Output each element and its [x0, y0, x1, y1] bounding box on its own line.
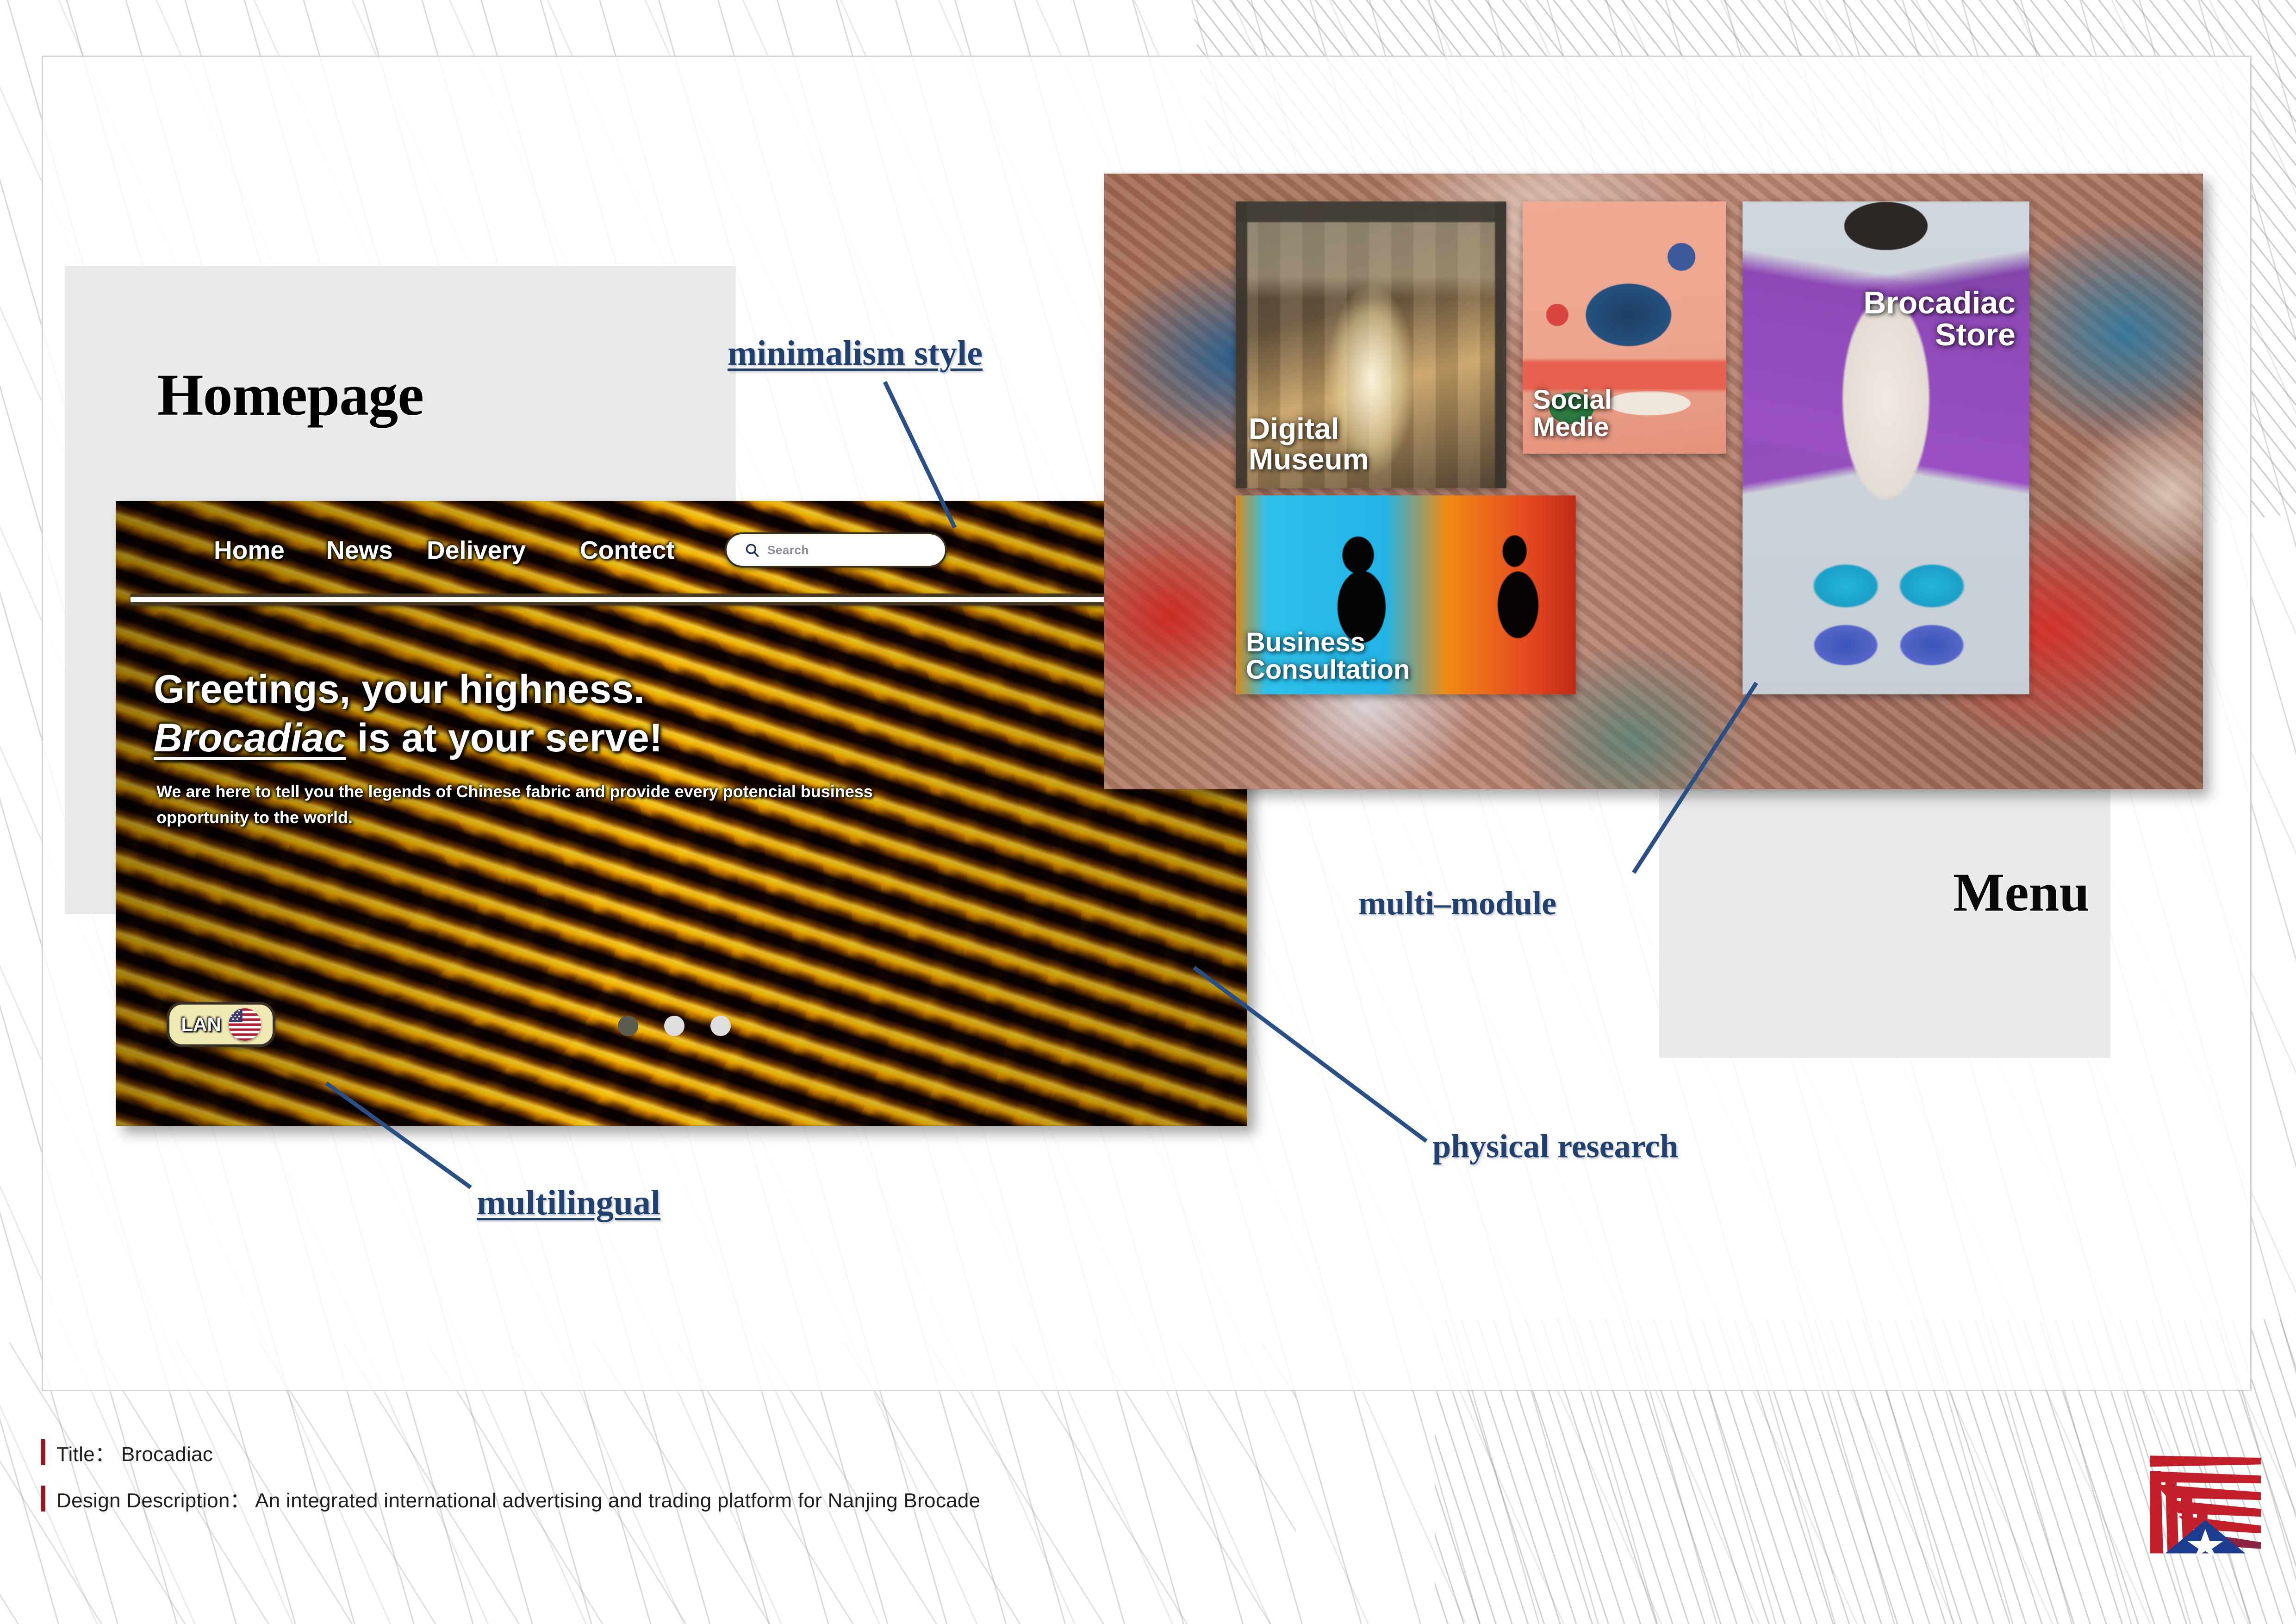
- language-button-label: LAN: [181, 1013, 221, 1036]
- homepage-mockup: Home News Delivery Contect Search Greeti…: [116, 501, 1247, 1126]
- menu-section-title: Menu: [1953, 861, 2090, 924]
- menu-tile-label-business-consultation: Business Consultation: [1246, 629, 1410, 683]
- carousel-indicator[interactable]: [618, 1016, 731, 1036]
- footer-accent-bar: [41, 1486, 45, 1512]
- menu-mockup: Digital Museum Social Medie Business Con…: [1104, 174, 2203, 789]
- menu-tile-label-brocadiac-store: Brocadiac Store: [1863, 287, 2016, 351]
- hero-headline-line-1: Greetings, your highness.: [154, 665, 1056, 714]
- institution-logo: [2150, 1447, 2261, 1558]
- carousel-dot-3[interactable]: [710, 1016, 731, 1036]
- callout-minimalism-style: minimalism style: [728, 333, 983, 374]
- homepage-section-title: Homepage: [157, 361, 423, 429]
- hero-subtitle: We are here to tell you the legends of C…: [156, 779, 943, 831]
- hero-headline-line-2: Brocadiac is at your serve!: [154, 714, 1056, 762]
- navigation-divider-rule: [131, 593, 1233, 606]
- brand-name-emphasis: Brocadiac: [154, 716, 346, 760]
- menu-tile-business-consultation[interactable]: Business Consultation: [1236, 495, 1576, 694]
- carousel-dot-1[interactable]: [618, 1016, 638, 1036]
- footer-title-row: Title： Brocadiac: [41, 1437, 213, 1467]
- menu-tile-brocadiac-store[interactable]: Brocadiac Store: [1742, 201, 2029, 694]
- search-input[interactable]: Search: [725, 532, 947, 568]
- callout-multilingual: multilingual: [477, 1183, 660, 1223]
- nav-link-news[interactable]: News: [326, 535, 393, 565]
- us-flag-icon: [229, 1008, 261, 1041]
- nav-link-contect[interactable]: Contect: [580, 535, 675, 565]
- menu-tile-label-social-medie: Social Medie: [1533, 386, 1612, 441]
- callout-multi-module: multi–module: [1358, 884, 1556, 923]
- callout-physical-research: physical research: [1432, 1127, 1678, 1166]
- search-placeholder-text: Search: [767, 543, 809, 557]
- menu-tile-social-medie[interactable]: Social Medie: [1523, 201, 1726, 454]
- hero-headline-line-2-rest: is at your serve!: [346, 716, 663, 760]
- hero-headline-block: Greetings, your highness. Brocadiac is a…: [154, 665, 1056, 762]
- search-icon: [744, 542, 760, 558]
- brocadiac-store-scarf-photo: [1742, 201, 2029, 694]
- menu-tile-digital-museum[interactable]: Digital Museum: [1236, 201, 1506, 488]
- footer-title-text: Title： Brocadiac: [56, 1437, 213, 1467]
- menu-tile-label-digital-museum: Digital Museum: [1249, 414, 1369, 475]
- footer-description-text: Design Description： An integrated intern…: [56, 1484, 980, 1513]
- footer-description-row: Design Description： An integrated intern…: [41, 1484, 980, 1513]
- site-navigation-bar: Home News Delivery Contect Search: [116, 525, 1247, 575]
- footer-accent-bar: [41, 1439, 45, 1465]
- nav-link-delivery[interactable]: Delivery: [427, 535, 526, 565]
- language-switcher-button[interactable]: LAN: [167, 1002, 275, 1047]
- nav-link-home[interactable]: Home: [214, 535, 285, 565]
- carousel-dot-2[interactable]: [664, 1016, 684, 1036]
